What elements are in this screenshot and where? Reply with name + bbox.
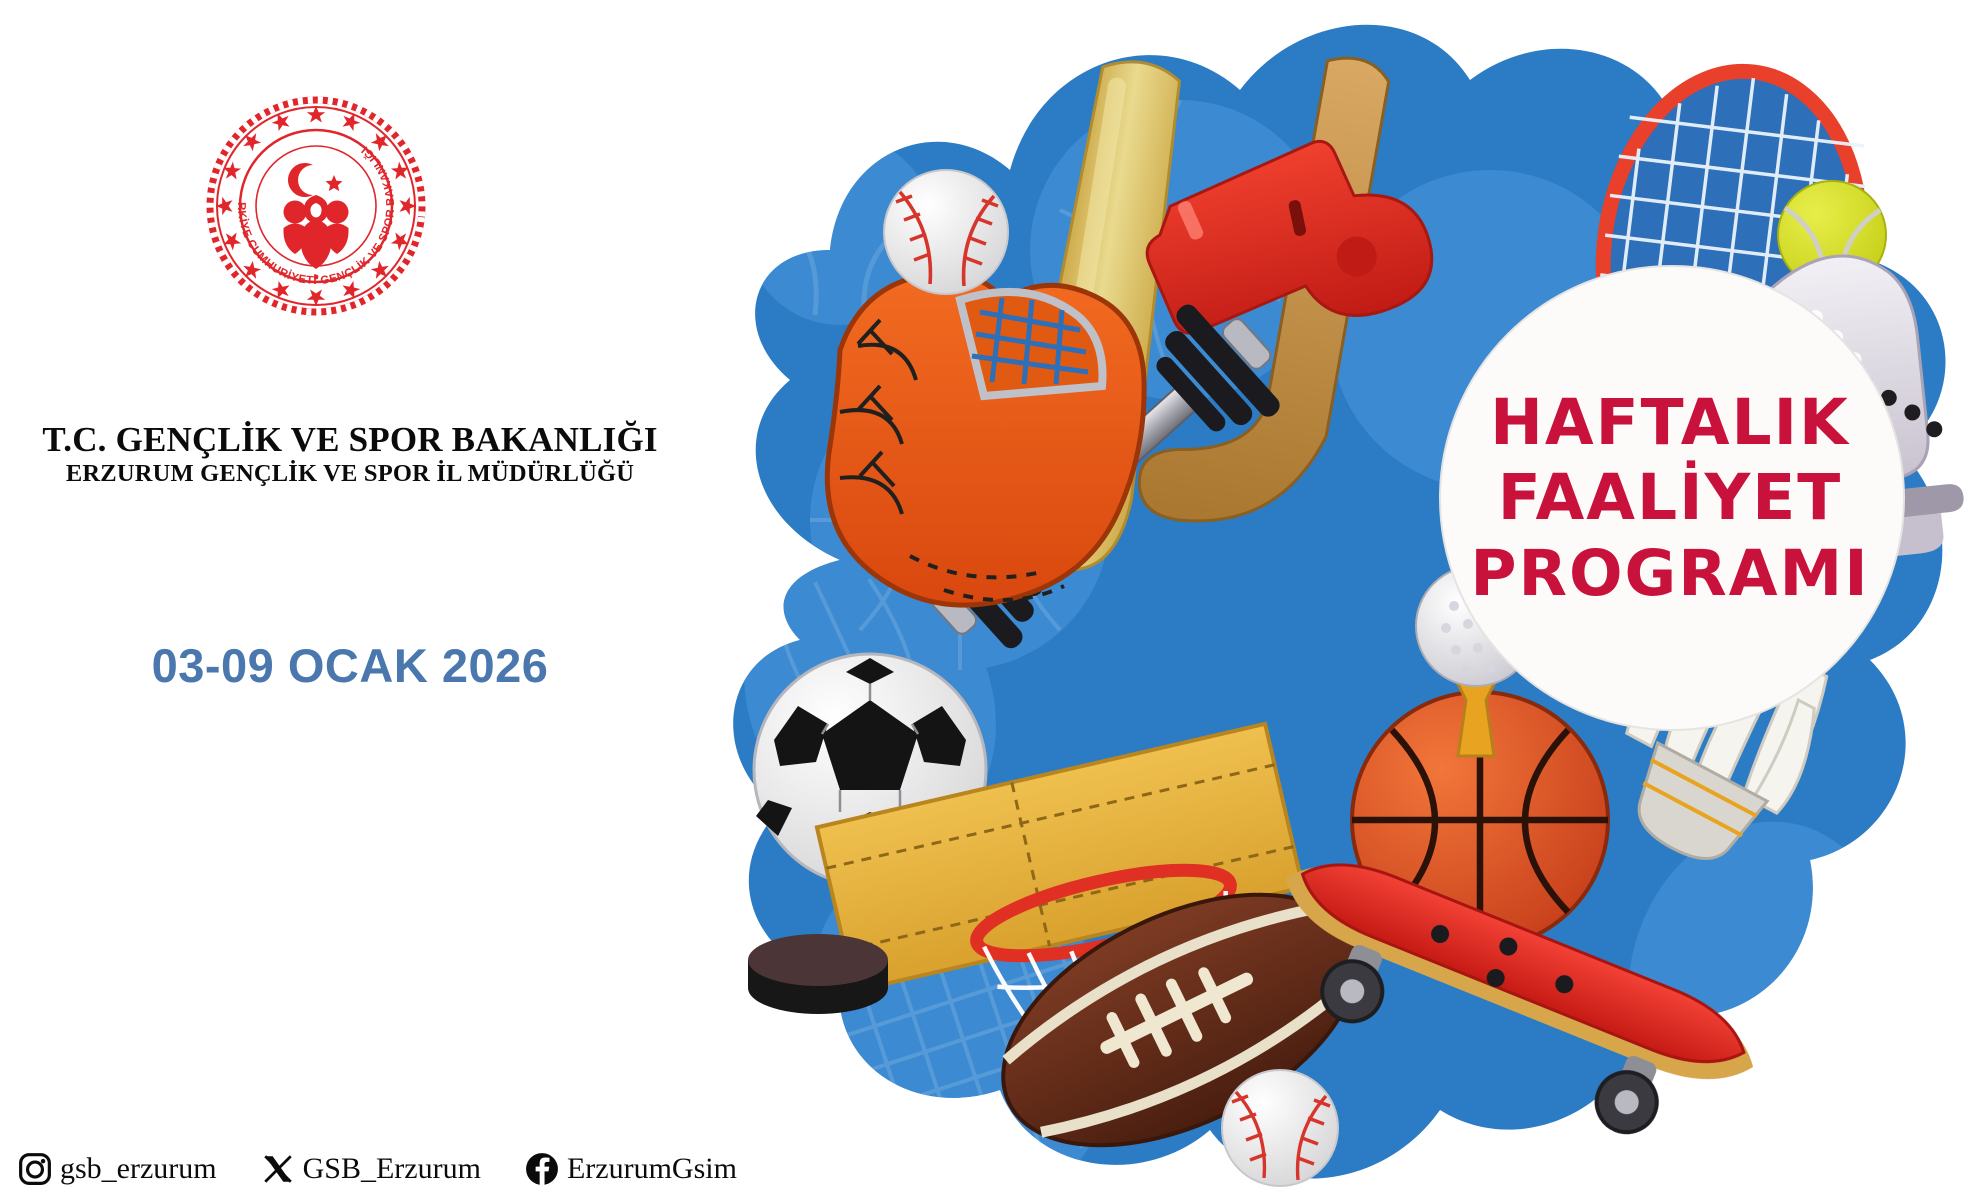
baseball-small-icon: [1222, 1070, 1338, 1186]
x-twitter-icon: [261, 1152, 295, 1186]
instagram-icon: [18, 1152, 52, 1186]
sports-collage: HAFTALIK FAALİYET PROGRAMI: [540, 0, 1969, 1204]
hockey-puck-icon: [748, 934, 888, 1014]
weekly-activity-program-poster: TÜRKİYE CUMHURİYETİ GENÇLİK VE SPOR BAKA…: [0, 0, 1969, 1204]
x-twitter-handle: GSB_Erzurum: [303, 1152, 481, 1186]
facebook-handle: ErzurumGsim: [567, 1152, 737, 1186]
instagram-handle: gsb_erzurum: [60, 1152, 217, 1186]
facebook-icon: [525, 1152, 559, 1186]
ministry-seal-logo: TÜRKİYE CUMHURİYETİ GENÇLİK VE SPOR BAKA…: [205, 95, 427, 317]
social-facebook[interactable]: ErzurumGsim: [525, 1152, 737, 1186]
title-white-circle: [1440, 266, 1904, 730]
baseball-icon: [884, 170, 1008, 294]
social-instagram[interactable]: gsb_erzurum: [18, 1152, 217, 1186]
social-media-bar: gsb_erzurum GSB_Erzurum ErzurumGsim: [18, 1152, 737, 1186]
social-x-twitter[interactable]: GSB_Erzurum: [261, 1152, 481, 1186]
